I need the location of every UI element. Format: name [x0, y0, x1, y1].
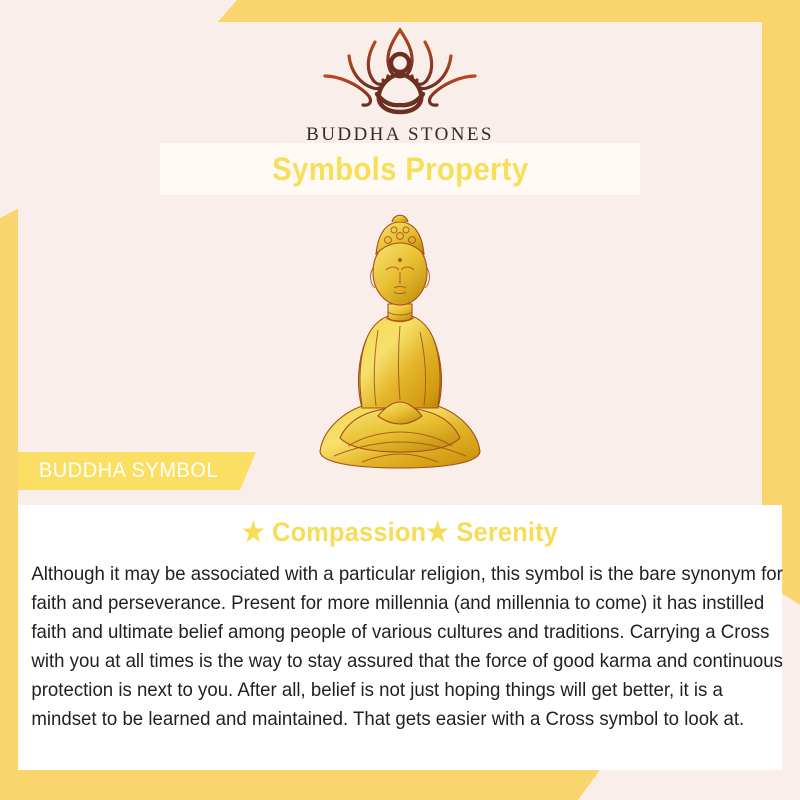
content-card: ★ Compassion★ Serenity Although it may b…	[18, 505, 782, 770]
buddha-symbol-tag-label: BUDDHA SYMBOL	[18, 459, 218, 483]
lotus-meditation-icon	[0, 22, 800, 122]
page-title: Symbols Property	[272, 151, 528, 188]
buddha-symbol-tag: BUDDHA SYMBOL	[18, 452, 256, 490]
content-subtitle: ★ Compassion★ Serenity	[41, 505, 759, 548]
decor-bottom-bar	[0, 770, 600, 800]
brand-header: BUDDHA STONES	[0, 22, 800, 146]
poster-root: BUDDHA STONES Symbols Property	[0, 0, 800, 800]
title-banner: Symbols Property	[160, 143, 640, 195]
content-paragraph: Although it may be associated with a par…	[18, 548, 799, 734]
seated-buddha-statue	[300, 200, 500, 490]
